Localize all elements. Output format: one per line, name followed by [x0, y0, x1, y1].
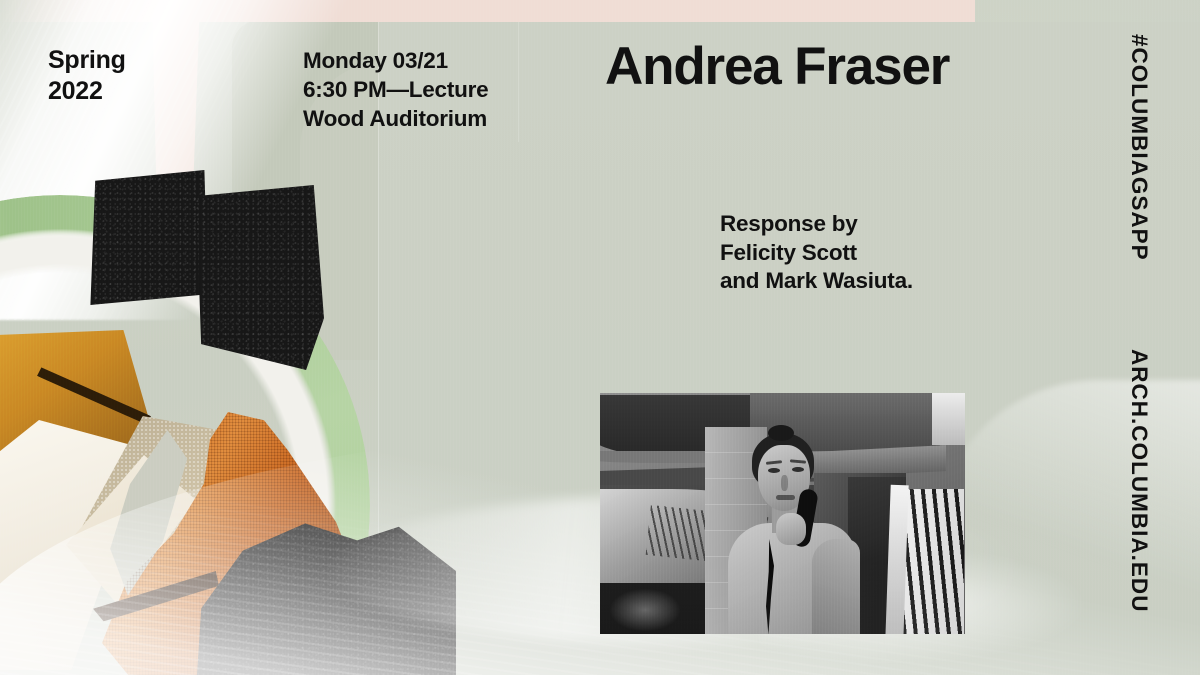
photo-figure-hair-bun	[768, 425, 794, 441]
photo-figure-hand	[776, 513, 806, 545]
event-poster: Spring 2022 Monday 03/21 6:30 PM—Lecture…	[0, 0, 1200, 675]
sage-panel-seam-inner	[518, 22, 519, 142]
photo-top-right-light	[932, 393, 965, 445]
website-vertical: ARCH.COLUMBIA.EDU	[1126, 349, 1152, 612]
photo-figure-eye-right	[792, 467, 804, 472]
event-details: Monday 03/21 6:30 PM—Lecture Wood Audito…	[303, 46, 488, 133]
lecture-photograph	[600, 393, 965, 634]
charcoal-block-upper-left	[88, 170, 208, 305]
photo-figure-arm	[812, 539, 860, 634]
photo-lower-glow	[610, 589, 680, 631]
photo-figure-nose	[781, 475, 788, 491]
response-credit: Response by Felicity Scott and Mark Wasi…	[720, 210, 913, 296]
hashtag-vertical: #COLUMBIAGSAPP	[1126, 34, 1152, 261]
photo-figure-mouth	[776, 495, 795, 500]
semester-label: Spring 2022	[48, 45, 126, 106]
photo-figure-eye-left	[768, 468, 780, 473]
speaker-title: Andrea Fraser	[605, 40, 949, 93]
charcoal-block-upper-right	[196, 185, 324, 370]
